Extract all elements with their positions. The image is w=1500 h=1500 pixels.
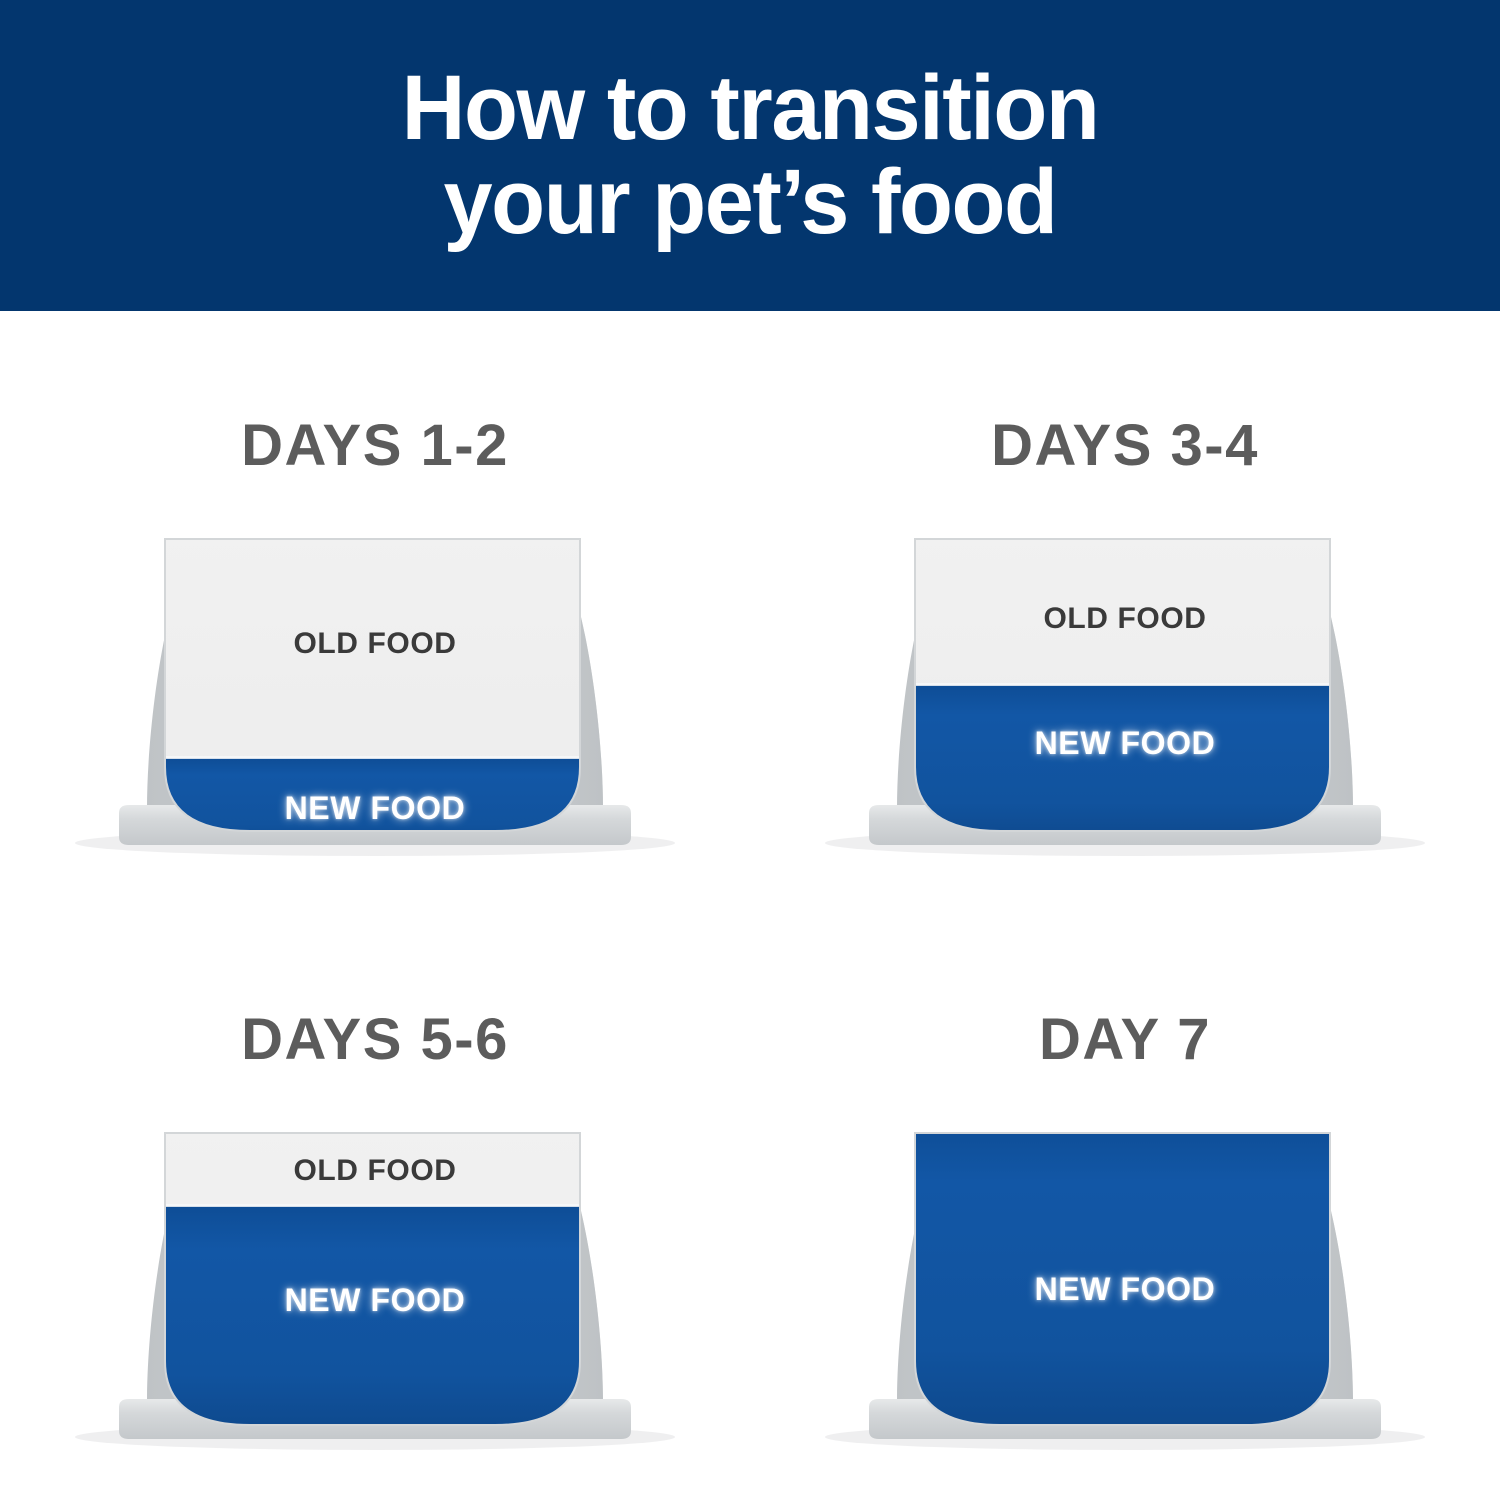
- bowl-days-1-2: OLD FOOD NEW FOOD: [55, 499, 695, 859]
- header-banner: How to transition your pet’s food: [0, 0, 1500, 311]
- infographic-page: How to transition your pet’s food DAYS 1…: [0, 0, 1500, 1500]
- step-card-days-3-4: DAYS 3-4: [750, 311, 1500, 905]
- page-title: How to transition your pet’s food: [270, 62, 1230, 250]
- day-label: DAYS 3-4: [991, 417, 1259, 475]
- bowl-days-3-4: OLD FOOD NEW FOOD: [805, 499, 1445, 859]
- bowl-cavity: [155, 1123, 595, 1447]
- day-label: DAYS 1-2: [241, 417, 509, 475]
- bowl-illustration: [55, 1093, 695, 1453]
- step-card-day-7: DAY 7: [750, 905, 1500, 1500]
- food-divider-highlight: [155, 756, 595, 759]
- bowl-day-7: NEW FOOD: [805, 1093, 1445, 1453]
- transition-steps-grid: DAYS 1-2: [0, 311, 1500, 1500]
- bowl-days-5-6: OLD FOOD NEW FOOD: [55, 1093, 695, 1453]
- bowl-illustration: [55, 499, 695, 859]
- food-divider-highlight: [155, 1204, 595, 1207]
- new-food-fill: [155, 1206, 595, 1447]
- bowl-illustration: [805, 1093, 1445, 1453]
- bowl-cavity: [905, 1123, 1345, 1447]
- step-card-days-5-6: DAYS 5-6: [0, 905, 750, 1500]
- bowl-cavity: [155, 529, 595, 853]
- step-card-days-1-2: DAYS 1-2: [0, 311, 750, 905]
- bowl-cavity: [905, 529, 1345, 853]
- day-label: DAYS 5-6: [241, 1011, 509, 1069]
- bowl-illustration: [805, 499, 1445, 859]
- new-food-fill: [905, 1123, 1345, 1447]
- page-title-line-2: your pet’s food: [270, 156, 1230, 250]
- page-title-line-1: How to transition: [270, 62, 1230, 156]
- day-label: DAY 7: [1039, 1011, 1211, 1069]
- food-divider-highlight: [905, 683, 1345, 686]
